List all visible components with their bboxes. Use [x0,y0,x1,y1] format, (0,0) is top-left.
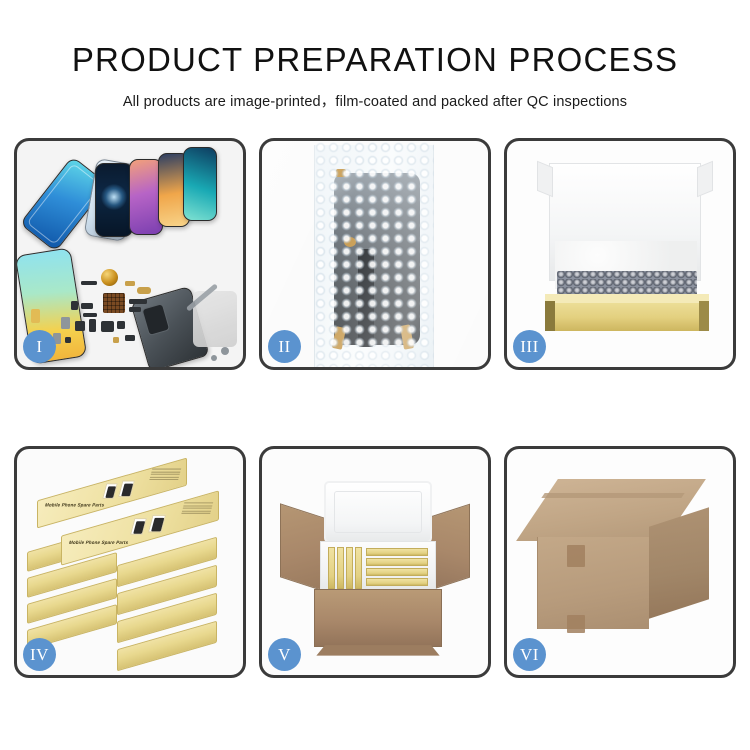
small-part [31,309,40,323]
plastic-sheen [262,141,488,367]
carton-body [314,589,442,647]
box-brand-text: Mobile Phone Spare Parts [69,540,129,545]
small-part [117,321,125,329]
box-spec-lines [181,502,213,515]
packed-retail-box [366,568,428,576]
small-part [65,337,71,343]
step-badge-2: II [268,330,301,363]
kraft-box-tray [545,301,709,331]
small-part [75,321,85,331]
box-window [130,518,147,535]
phone-screen-teal [183,147,217,221]
step-badge-5: V [268,638,301,671]
step-badge-1: I [23,330,56,363]
carton-front-face [537,537,649,629]
small-part [129,299,147,304]
box-spec-lines [149,469,181,482]
packed-retail-box [366,558,428,566]
repair-tool [193,291,237,347]
step-badge-4: IV [23,638,56,671]
copper-coil-part [101,269,118,286]
packed-retail-box [355,547,362,589]
carton-side-face [649,507,709,618]
packed-retail-box [328,547,335,589]
kraft-box-corner-left [545,301,555,331]
box-window [148,515,166,533]
packed-retail-box [346,547,353,589]
page-subtitle: All products are image-printed，film-coat… [0,90,750,111]
step-badge-6: VI [513,638,546,671]
process-step-5: V [259,446,491,678]
small-part [101,321,114,332]
box-window [102,483,118,499]
small-part [81,281,97,285]
process-step-4: Mobile Phone Spare Parts Mobile [14,446,246,678]
carton-tape-upper [567,545,585,567]
screw-part [211,355,217,361]
step-5-image [262,449,488,675]
screw-part [221,347,229,355]
kraft-box-corner-right [699,301,709,331]
phone-screen-dark [95,163,133,237]
step-3-image [507,141,733,367]
small-part [83,313,97,317]
process-step-6: VI [504,446,736,678]
small-part [125,335,135,341]
small-part [129,307,141,312]
page-title: PRODUCT PREPARATION PROCESS [0,43,750,78]
carton-tape-lower [567,615,585,633]
small-part [71,301,78,310]
packed-retail-box [337,547,344,589]
small-part [61,317,70,329]
step-4-image: Mobile Phone Spare Parts Mobile [17,449,243,675]
step-2-image [262,141,488,367]
step-badge-3: III [513,330,546,363]
packed-retail-box [366,578,428,586]
retail-box-stack: Mobile Phone Spare Parts Mobile [21,465,243,665]
small-part [137,287,151,294]
step-6-image [507,449,733,675]
circuit-chip-part [103,293,125,313]
product-preparation-infographic: PRODUCT PREPARATION PROCESS All products… [0,0,750,750]
box-brand-text: Mobile Phone Spare Parts [45,503,105,508]
box-window [118,481,135,498]
header: PRODUCT PREPARATION PROCESS All products… [0,0,750,111]
small-part [81,303,93,309]
small-part [89,319,96,332]
process-step-grid: I II [14,138,736,678]
process-step-2: II [259,138,491,370]
foam-box-lid [324,481,432,543]
process-step-3: III [504,138,736,370]
carton-top-seam [541,493,684,498]
packed-retail-box [366,548,428,556]
small-part [125,281,135,286]
step-1-image [17,141,243,367]
small-part [113,337,119,343]
process-step-1: I [14,138,246,370]
